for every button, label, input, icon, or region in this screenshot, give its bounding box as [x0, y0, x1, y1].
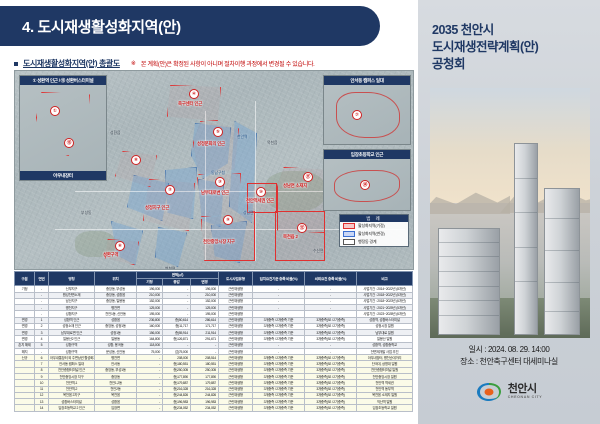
- legend-label-2: 행정동 경계: [358, 239, 376, 245]
- poster-title-line2: 도시재생전략계획(안): [432, 39, 592, 56]
- note-mark-icon: ※: [131, 60, 136, 67]
- cell-name: 입장초등학교 2 인근: [49, 405, 95, 411]
- zone-12-number: ⑫: [297, 223, 307, 233]
- inset-zone-1-number: ①: [50, 106, 60, 116]
- inset-rt-header: 안서동 캠퍼스 일대: [324, 76, 410, 85]
- map-place-label-2: 목천읍: [267, 141, 277, 146]
- zone-9-number: ⑨: [223, 215, 233, 225]
- table-header-row-1: 구분 연번 명칭 위치 면적(㎡) 도시사업유형 입지요건기준 충족 비율(%)…: [15, 272, 413, 279]
- legend-label-0: 활성화지역(기정): [358, 223, 385, 229]
- poster-title: 2035 천안시 도시재생전략계획(안) 공청회: [432, 22, 592, 73]
- cell-area-new: 234,052: [191, 405, 219, 411]
- cell-remark: 입장초등학교 일원: [357, 405, 413, 411]
- zone-3-label: 남부대로변 인근: [201, 190, 229, 196]
- zone-11-number: ⑪: [303, 172, 313, 182]
- th-area-delta: 증감: [163, 279, 191, 286]
- note-text: 본 계획(안)은 확정된 사항이 아니며 절차이행 과정에서 변경될 수 있습니…: [141, 59, 315, 68]
- poster-title-line1: 2035 천안시: [432, 22, 592, 39]
- zone-table: 구분 연번 명칭 위치 면적(㎡) 도시사업유형 입지요건기준 충족 비율(%)…: [14, 271, 413, 412]
- th-area-new: 변경: [191, 279, 219, 286]
- legend-label-1: 활성화지역(변경): [358, 231, 385, 237]
- cell-position: 입장면: [95, 405, 137, 411]
- inset-left-zone: [36, 92, 90, 156]
- inset-rb-header: 입장초등학교 인근: [324, 150, 410, 159]
- inset-zone-15-number: ⑮: [64, 138, 74, 148]
- zone-table-wrap: 구분 연번 명칭 위치 면적(㎡) 도시사업유형 입지요건기준 충족 비율(%)…: [14, 271, 412, 412]
- cell-decline-req: 3개충족(92 / 2기충족): [305, 405, 357, 411]
- inset-rt-zone: [336, 92, 400, 138]
- event-place: 장소 : 천안축구센터 대세미나실: [418, 356, 600, 368]
- city-logo-en: CHEONAN CITY: [508, 396, 543, 400]
- zone-6-label: 성환구역: [103, 252, 118, 258]
- city-logo-kr: 천안시: [508, 384, 543, 395]
- th-name: 명칭: [49, 272, 95, 286]
- zone-3-number: ③: [215, 177, 225, 187]
- zone-8-number: ⑧: [131, 155, 141, 165]
- th-group: 구분: [15, 272, 35, 286]
- legend-swatch-boundary-icon: [343, 239, 355, 245]
- map-place-label-6: 병천면: [165, 267, 175, 270]
- city-logo: 천안시 CHEONAN CITY: [418, 382, 600, 402]
- legend-item-1: 활성화지역(변경): [340, 230, 408, 238]
- map-place-label-5: 부성동: [81, 211, 91, 216]
- inset-zone-14-number: ⑭: [360, 180, 370, 190]
- th-location-req: 입지요건기준 충족 비율(%): [253, 272, 305, 286]
- event-datetime: 일시 : 2024. 08. 29. 14:00: [418, 344, 600, 356]
- map-place-label-7: 동남구청: [211, 171, 225, 176]
- inset-map-seonghwan[interactable]: ① 성환역 인근 / ⑮ 성환버스터미널 ① ⑮ 아우내장터: [19, 75, 107, 181]
- photo-building-tower-2: [544, 188, 580, 335]
- th-area-base: 기정: [137, 279, 163, 286]
- th-area: 면적(㎡): [137, 272, 219, 279]
- legend-item-0: 활성화지역(기정): [340, 222, 408, 230]
- bullet-icon: [14, 62, 18, 66]
- cheonan-city-logo-icon: [476, 382, 502, 402]
- zone-11-label: 성남면 소재지: [283, 183, 307, 189]
- th-decline-req: 쇠퇴요건 충족 비율(%): [305, 272, 357, 286]
- legend-swatch-changed-icon: [343, 231, 355, 237]
- inset-left-footer: 아우내장터: [20, 171, 106, 180]
- cell-project-type: 근린재생형: [219, 405, 253, 411]
- th-no: 연번: [35, 272, 49, 286]
- zone-5-label: 성정문화의 인근: [197, 141, 225, 147]
- cell-group: [15, 405, 35, 411]
- photo-building-tower-1: [514, 143, 538, 335]
- zone-4-number: ④: [189, 89, 199, 99]
- map-place-label-3: 천안역: [237, 135, 247, 140]
- right-panel: 2035 천안시 도시재생전략계획(안) 공청회 일시: [418, 0, 600, 424]
- zone-10-label: 천안역세권 인근: [246, 198, 274, 204]
- map-legend: 범 례 활성화지역(기정) 활성화지역(변경) 행정동 경계: [339, 214, 409, 247]
- photo-building-podium: [438, 228, 500, 335]
- road-v2: [255, 101, 256, 261]
- legend-swatch-existing-icon: [343, 223, 355, 229]
- th-position: 위치: [95, 272, 137, 286]
- zone-table-head: 구분 연번 명칭 위치 면적(㎡) 도시사업유형 입지요건기준 충족 비율(%)…: [15, 272, 413, 286]
- rendering-photo: [430, 88, 590, 338]
- city-logo-text: 천안시 CHEONAN CITY: [508, 384, 543, 400]
- zone-2-label: 성정지구 인근: [145, 205, 169, 211]
- map-place-label-8: 수신면: [313, 249, 323, 254]
- overview-map[interactable]: ④ 축구센터 인근 ⑤ 성정문화의 인근 ③ 남부대로변 인근 ② 성정지구 인…: [14, 70, 414, 270]
- zone-table-body: 기정-신부지구중앙동, 부성동196,000-196,000근린재생형--사업기…: [15, 286, 413, 411]
- map-place-label-1: 성환읍: [110, 131, 120, 136]
- th-remark: 비고: [357, 272, 413, 286]
- legend-item-2: 행정동 경계: [340, 238, 408, 246]
- zone-10-number: ⑩: [256, 187, 266, 197]
- table-row: 14입장초등학교 2 인근입장면-증)234,052234,052근린재생형3개…: [15, 405, 413, 411]
- th-project-type: 도시사업유형: [219, 272, 253, 286]
- subtitle: 도시재생활성화지역(안) 총괄도: [23, 58, 120, 69]
- cell-area-delta: 증)234,052: [163, 405, 191, 411]
- page-title: 4. 도시재생활성화지역(안): [22, 16, 181, 37]
- inset-zone-7-number: ⑦: [352, 110, 362, 120]
- left-content: 4. 도시재생활성화지역(안) 도시재생활성화지역(안) 총괄도 ※ 본 계획(…: [0, 0, 418, 424]
- zone-6-number: ⑥: [115, 241, 125, 251]
- inset-left-header: ① 성환역 인근 / ⑮ 성환버스터미널: [20, 76, 106, 85]
- zone-12-label: 목천읍 2: [283, 234, 298, 240]
- cell-area-base: -: [137, 405, 163, 411]
- map-place-label-4: 성남면: [243, 211, 253, 216]
- legend-title: 범 례: [340, 215, 408, 222]
- subtitle-row: 도시재생활성화지역(안) 총괄도 ※ 본 계획(안)은 확정된 사항이 아니며 …: [14, 58, 315, 69]
- cell-location-req: 3개충족 / 2개충족 기준: [253, 405, 305, 411]
- zone-5-number: ⑤: [213, 127, 223, 137]
- inset-map-anseo[interactable]: 안서동 캠퍼스 일대 ⑦: [323, 75, 411, 145]
- cell-no: 14: [35, 405, 49, 411]
- event-info: 일시 : 2024. 08. 29. 14:00 장소 : 천안축구센터 대세미…: [418, 344, 600, 368]
- slide-page: 4. 도시재생활성화지역(안) 도시재생활성화지역(안) 총괄도 ※ 본 계획(…: [0, 0, 600, 424]
- zone-2-number: ②: [165, 185, 175, 195]
- photo-sky: [430, 88, 590, 203]
- zone-9-label: 천안중앙시장 지구: [203, 239, 235, 245]
- poster-title-line3: 공청회: [432, 56, 592, 73]
- zone-4-label: 축구센터 인근: [178, 101, 202, 107]
- inset-map-ipjang[interactable]: 입장초등학교 인근 ⑭: [323, 149, 411, 211]
